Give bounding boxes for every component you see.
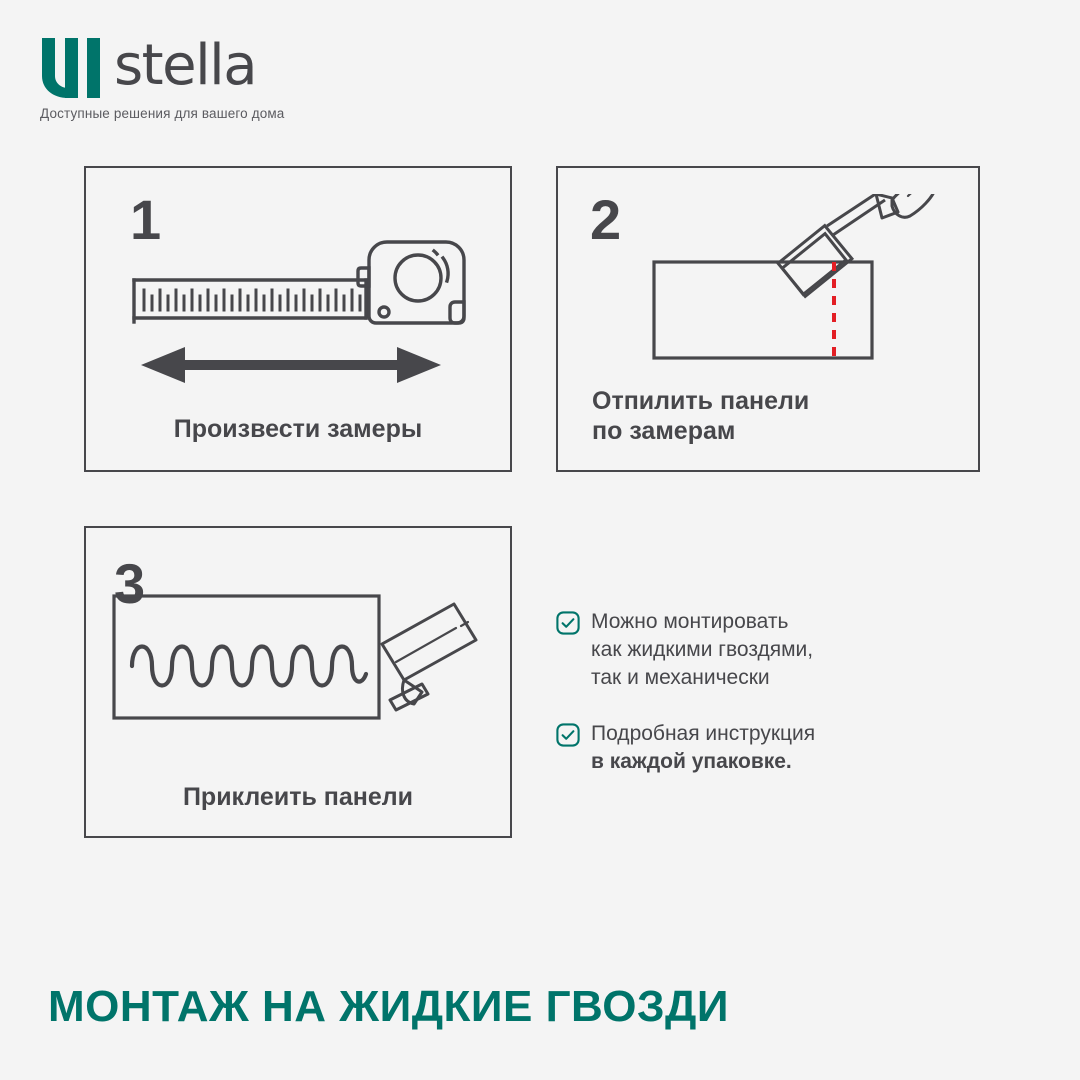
measure-arrow-icon xyxy=(141,344,441,386)
step-card-1: 1 xyxy=(84,166,512,472)
stella-bars-logo-icon xyxy=(40,38,102,98)
feature-2-line-1: Подробная инструкция xyxy=(591,720,815,748)
infographic-canvas: stella Доступные решения для вашего дома… xyxy=(0,0,1080,1080)
feature-list: Можно монтировать как жидкими гвоздями, … xyxy=(556,608,956,776)
feature-item: Можно монтировать как жидкими гвоздями, … xyxy=(556,608,956,692)
handsaw-cutting-panel-icon xyxy=(580,194,970,404)
feature-1-line-3: так и механически xyxy=(591,664,813,692)
step-caption-3: Приклеить панели xyxy=(86,783,510,813)
step-caption-1: Произвести замеры xyxy=(86,415,510,445)
feature-item: Подробная инструкция в каждой упаковке. xyxy=(556,720,956,776)
step-caption-2-line-1: Отпилить панели xyxy=(592,387,809,417)
logo-row: stella xyxy=(40,38,460,100)
step-card-3: 3 Приклеить панели xyxy=(84,526,512,838)
check-square-icon xyxy=(556,611,580,635)
feature-2-line-2: в каждой упаковке. xyxy=(591,748,815,776)
step-card-2: 2 Отпилить панели по за xyxy=(556,166,980,472)
brand-wordmark: stella xyxy=(114,38,256,94)
feature-1-line-1: Можно монтировать xyxy=(591,608,813,636)
step-caption-2-line-2: по замерам xyxy=(592,417,809,447)
brand-tagline: Доступные решения для вашего дома xyxy=(40,106,460,121)
feature-1-line-2: как жидкими гвоздями, xyxy=(591,636,813,664)
caulk-gun-adhesive-bead-icon xyxy=(104,588,494,748)
step-caption-2: Отпилить панели по замерам xyxy=(592,387,809,446)
check-square-icon xyxy=(556,723,580,747)
page-headline: МОНТАЖ НА ЖИДКИЕ ГВОЗДИ xyxy=(48,982,729,1032)
feature-text: Можно монтировать как жидкими гвоздями, … xyxy=(591,608,813,692)
feature-text: Подробная инструкция в каждой упаковке. xyxy=(591,720,815,776)
brand-logo-block: stella Доступные решения для вашего дома xyxy=(40,38,460,128)
